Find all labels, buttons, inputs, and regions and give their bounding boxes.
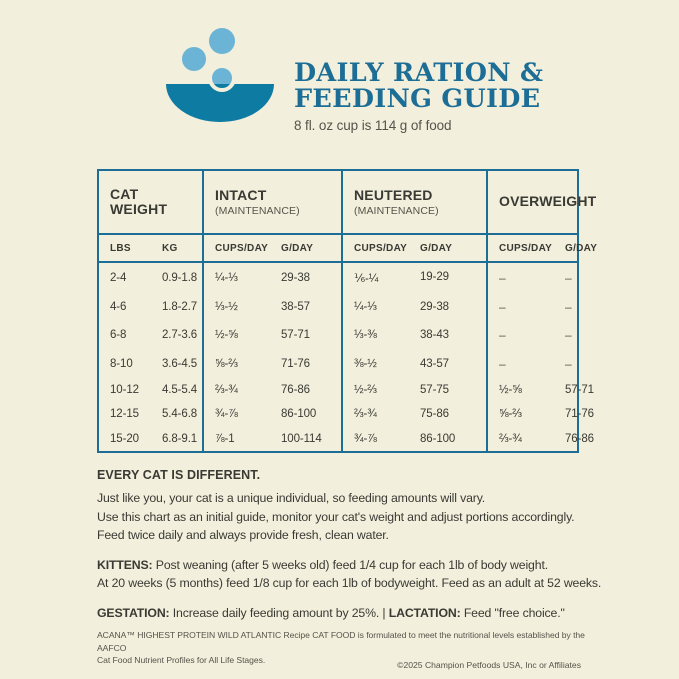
gestation-text: Increase daily feeding amount by 25%. | (170, 606, 389, 620)
cell-overweight-g: 57-71 (565, 384, 594, 396)
cell-overweight-g: 76-86 (565, 433, 594, 445)
lactation-label: LACTATION: (389, 606, 461, 620)
gestation-lactation-line: GESTATION: Increase daily feeding amount… (97, 604, 587, 623)
kittens-line-1: KITTENS: Post weaning (after 5 weeks old… (97, 556, 587, 575)
row-intact: ⅔-¾ 76-86 (203, 378, 342, 402)
cell-neutered-g: 86-100 (420, 433, 486, 445)
cell-overweight-g: – (565, 328, 577, 342)
cell-intact-g: 38-57 (281, 301, 341, 313)
row-intact: ⅝-⅔ 71-76 (203, 349, 342, 377)
cell-intact-cups: ¾-⅞ (215, 408, 281, 420)
row-neutered: ¾-⅞ 86-100 (342, 427, 487, 451)
group-header-intact: INTACT (MAINTENANCE) (203, 171, 342, 234)
row-intact: ¾-⅞ 86-100 (203, 402, 342, 426)
cell-kg: 2.7-3.6 (162, 329, 202, 341)
cell-neutered-cups: ⅙-¼ (354, 271, 420, 285)
cell-neutered-cups: ½-⅔ (354, 384, 420, 396)
cell-lbs: 12-15 (110, 408, 162, 420)
col-header-intact-g: G/DAY (281, 243, 341, 254)
cell-intact-cups: ⅝-⅔ (215, 358, 281, 370)
row-overweight: – – (487, 349, 577, 377)
cell-overweight-g: – (565, 300, 577, 314)
lactation-text: Feed "free choice." (461, 606, 565, 620)
cell-intact-cups: ⅞-1 (215, 433, 281, 445)
kittens-line-2: At 20 weeks (5 months) feed 1/8 cup for … (97, 574, 587, 593)
notes-heading: EVERY CAT IS DIFFERENT. (97, 468, 587, 482)
cell-intact-g: 76-86 (281, 384, 341, 396)
row-overweight: – – (487, 262, 577, 292)
notes-line-3: Feed twice daily and always provide fres… (97, 526, 587, 545)
group-header-cat-weight: CAT WEIGHT (99, 171, 203, 234)
spacer (97, 593, 587, 604)
table-column-header-row: LBS KG CUPS/DAY G/DAY CUPS/DAY G/DAY (99, 234, 577, 262)
row-neutered: ¼-⅓ 29-38 (342, 292, 487, 320)
row-overweight: ½-⅝ 57-71 (487, 378, 577, 402)
colgroup-neutered: CUPS/DAY G/DAY (342, 234, 487, 262)
cell-kg: 6.8-9.1 (162, 433, 202, 445)
row-intact: ⅓-½ 38-57 (203, 292, 342, 320)
row-neutered: ½-⅔ 57-75 (342, 378, 487, 402)
row-intact: ¼-⅓ 29-38 (203, 262, 342, 292)
table-row: 6-8 2.7-3.6 ½-⅝ 57-71 ⅓-⅜ 38-43 – – (99, 321, 577, 349)
notes-line-1: Just like you, your cat is a unique indi… (97, 489, 587, 508)
cell-overweight-cups: ⅔-¾ (499, 433, 565, 445)
row-intact: ⅞-1 100-114 (203, 427, 342, 451)
group-header-overweight: OVERWEIGHT (487, 171, 577, 234)
cell-neutered-g: 29-38 (420, 301, 486, 313)
page-subtitle: 8 fl. oz cup is 114 g of food (294, 118, 543, 133)
notes-section: EVERY CAT IS DIFFERENT. Just like you, y… (97, 468, 587, 622)
col-header-overweight-cups: CUPS/DAY (499, 243, 565, 254)
row-cat-weight: 8-10 3.6-4.5 (99, 349, 203, 377)
cell-overweight-g: – (565, 357, 577, 371)
title-block: DAILY RATION & FEEDING GUIDE 8 fl. oz cu… (276, 26, 543, 133)
table-row: 10-12 4.5-5.4 ⅔-¾ 76-86 ½-⅔ 57-75 ½-⅝ 57… (99, 378, 577, 402)
kittens-label: KITTENS: (97, 558, 153, 572)
cell-neutered-g: 57-75 (420, 384, 486, 396)
cell-intact-g: 71-76 (281, 358, 341, 370)
page-title-line1: DAILY RATION & (294, 60, 543, 86)
cell-overweight-g: – (565, 271, 577, 285)
cell-intact-g: 86-100 (281, 408, 341, 420)
cell-intact-cups: ¼-⅓ (215, 272, 281, 284)
food-bowl-icon (164, 26, 276, 122)
col-header-overweight-g: G/DAY (565, 243, 597, 254)
row-cat-weight: 10-12 4.5-5.4 (99, 378, 203, 402)
copyright-notice: ©2025 Champion Petfoods USA, Inc or Affi… (97, 660, 581, 670)
cell-overweight-cups: ½-⅝ (499, 384, 565, 396)
feeding-guide-page: DAILY RATION & FEEDING GUIDE 8 fl. oz cu… (0, 0, 679, 679)
row-neutered: ⅔-¾ 75-86 (342, 402, 487, 426)
cell-overweight-cups: – (499, 300, 565, 314)
cell-kg: 0.9-1.8 (162, 272, 202, 284)
fineprint-line-1: ACANA™ HIGHEST PROTEIN WILD ATLANTIC Rec… (97, 629, 587, 654)
row-neutered: ⅙-¼ 19-29 (342, 262, 487, 292)
gestation-label: GESTATION: (97, 606, 170, 620)
cell-lbs: 2-4 (110, 272, 162, 284)
row-overweight: ⅝-⅔ 71-76 (487, 402, 577, 426)
row-cat-weight: 12-15 5.4-6.8 (99, 402, 203, 426)
cell-kg: 3.6-4.5 (162, 358, 202, 370)
page-title-line2: FEEDING GUIDE (294, 86, 543, 112)
cell-kg: 4.5-5.4 (162, 384, 202, 396)
row-cat-weight: 15-20 6.8-9.1 (99, 427, 203, 451)
cell-overweight-cups: – (499, 271, 565, 285)
col-header-lbs: LBS (110, 243, 162, 254)
row-intact: ½-⅝ 57-71 (203, 321, 342, 349)
cell-intact-g: 29-38 (281, 272, 341, 284)
cell-intact-cups: ½-⅝ (215, 329, 281, 341)
row-cat-weight: 2-4 0.9-1.8 (99, 262, 203, 292)
table-group-header-row: CAT WEIGHT INTACT (MAINTENANCE) NEUTERED… (99, 171, 577, 234)
header: DAILY RATION & FEEDING GUIDE 8 fl. oz cu… (0, 0, 679, 128)
notes-line-2: Use this chart as an initial guide, moni… (97, 508, 587, 527)
cell-intact-cups: ⅓-½ (215, 301, 281, 313)
col-header-neutered-g: G/DAY (420, 243, 486, 254)
colgroup-intact: CUPS/DAY G/DAY (203, 234, 342, 262)
cell-neutered-cups: ⅜-½ (354, 358, 420, 370)
cell-lbs: 15-20 (110, 433, 162, 445)
row-overweight: – – (487, 321, 577, 349)
cell-overweight-g: 71-76 (565, 408, 594, 420)
table-row: 15-20 6.8-9.1 ⅞-1 100-114 ¾-⅞ 86-100 ⅔-¾… (99, 427, 577, 451)
cell-neutered-g: 19-29 (420, 271, 486, 285)
group-header-neutered: NEUTERED (MAINTENANCE) (342, 171, 487, 234)
row-neutered: ⅜-½ 43-57 (342, 349, 487, 377)
cell-lbs: 6-8 (110, 329, 162, 341)
row-cat-weight: 6-8 2.7-3.6 (99, 321, 203, 349)
col-header-neutered-cups: CUPS/DAY (354, 243, 420, 254)
spacer (97, 545, 587, 556)
row-cat-weight: 4-6 1.8-2.7 (99, 292, 203, 320)
cell-intact-g: 57-71 (281, 329, 341, 341)
cell-intact-g: 100-114 (281, 433, 341, 445)
table-row: 2-4 0.9-1.8 ¼-⅓ 29-38 ⅙-¼ 19-29 – – (99, 262, 577, 292)
row-neutered: ⅓-⅜ 38-43 (342, 321, 487, 349)
feeding-table: CAT WEIGHT INTACT (MAINTENANCE) NEUTERED… (97, 169, 579, 453)
cell-neutered-cups: ⅓-⅜ (354, 329, 420, 341)
cell-neutered-g: 75-86 (420, 408, 486, 420)
row-overweight: ⅔-¾ 76-86 (487, 427, 577, 451)
colgroup-overweight: CUPS/DAY G/DAY (487, 234, 577, 262)
cell-lbs: 4-6 (110, 301, 162, 313)
table-row: 12-15 5.4-6.8 ¾-⅞ 86-100 ⅔-¾ 75-86 ⅝-⅔ 7… (99, 402, 577, 426)
kittens-text: Post weaning (after 5 weeks old) feed 1/… (153, 558, 548, 572)
row-overweight: – – (487, 292, 577, 320)
table-row: 4-6 1.8-2.7 ⅓-½ 38-57 ¼-⅓ 29-38 – – (99, 292, 577, 320)
cell-overweight-cups: – (499, 357, 565, 371)
colgroup-cat-weight: LBS KG (99, 234, 203, 262)
cell-intact-cups: ⅔-¾ (215, 384, 281, 396)
cell-overweight-cups: ⅝-⅔ (499, 408, 565, 420)
cell-neutered-cups: ¾-⅞ (354, 433, 420, 445)
cell-neutered-g: 38-43 (420, 329, 486, 341)
cell-neutered-cups: ⅔-¾ (354, 408, 420, 420)
cell-lbs: 8-10 (110, 358, 162, 370)
col-header-kg: KG (162, 243, 202, 254)
cell-overweight-cups: – (499, 328, 565, 342)
cell-neutered-g: 43-57 (420, 358, 486, 370)
cell-kg: 1.8-2.7 (162, 301, 202, 313)
cell-lbs: 10-12 (110, 384, 162, 396)
col-header-intact-cups: CUPS/DAY (215, 243, 281, 254)
cell-kg: 5.4-6.8 (162, 408, 202, 420)
table-row: 8-10 3.6-4.5 ⅝-⅔ 71-76 ⅜-½ 43-57 – – (99, 349, 577, 377)
cell-neutered-cups: ¼-⅓ (354, 301, 420, 313)
